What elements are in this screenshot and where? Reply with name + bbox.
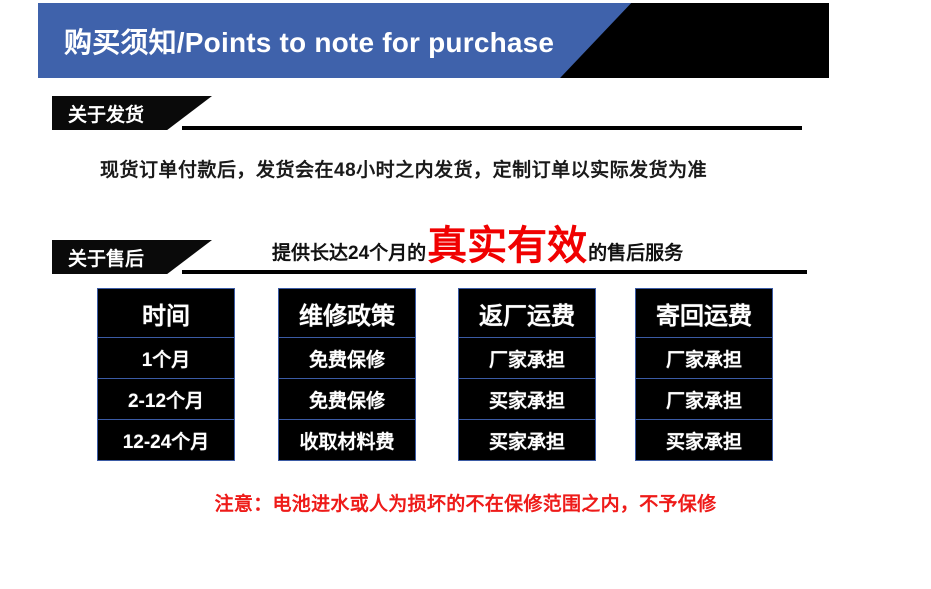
table-header-cell: 返厂运费	[458, 288, 596, 338]
table-cell: 厂家承担	[458, 338, 596, 379]
table-column-return-shipping: 返厂运费 厂家承担 买家承担 买家承担	[458, 288, 596, 461]
warranty-policy-table: 时间 1个月 2-12个月 12-24个月 维修政策 免费保修 免费保修 收取材…	[97, 288, 797, 463]
table-cell: 12-24个月	[97, 420, 235, 461]
aftersales-headline-emphasis: 真实有效	[426, 228, 588, 264]
warranty-warning-note: 注意：电池进水或人为损坏的不在保修范围之内，不予保修	[0, 489, 931, 516]
table-cell: 免费保修	[278, 379, 416, 420]
page-title: 购买须知/Points to note for purchase	[64, 3, 554, 78]
table-cell: 买家承担	[458, 420, 596, 461]
table-header-cell: 时间	[97, 288, 235, 338]
aftersales-headline-prefix: 提供长达24个月的	[272, 238, 426, 265]
aftersales-headline: 提供长达24个月的 真实有效 的售后服务	[272, 228, 683, 268]
table-cell: 厂家承担	[635, 338, 773, 379]
table-cell: 1个月	[97, 338, 235, 379]
table-cell: 买家承担	[458, 379, 596, 420]
table-cell: 免费保修	[278, 338, 416, 379]
shipping-paragraph: 现货订单付款后，发货会在48小时之内发货，定制订单以实际发货为准	[100, 150, 800, 192]
table-header-cell: 维修政策	[278, 288, 416, 338]
table-header-cell: 寄回运费	[635, 288, 773, 338]
section-header-shipping: 关于发货	[52, 96, 802, 130]
section-label-shipping: 关于发货	[68, 96, 144, 130]
table-cell: 厂家承担	[635, 379, 773, 420]
table-column-send-back-shipping: 寄回运费 厂家承担 厂家承担 买家承担	[635, 288, 773, 461]
page-header-banner: 购买须知/Points to note for purchase	[38, 3, 829, 78]
table-cell: 2-12个月	[97, 379, 235, 420]
table-cell: 买家承担	[635, 420, 773, 461]
section-rule-aftersales	[182, 270, 807, 274]
section-rule-shipping	[182, 126, 802, 130]
section-label-aftersales: 关于售后	[68, 240, 144, 274]
aftersales-headline-suffix: 的售后服务	[588, 238, 683, 265]
table-cell: 收取材料费	[278, 420, 416, 461]
table-column-time: 时间 1个月 2-12个月 12-24个月	[97, 288, 235, 461]
table-column-repair-policy: 维修政策 免费保修 免费保修 收取材料费	[278, 288, 416, 461]
